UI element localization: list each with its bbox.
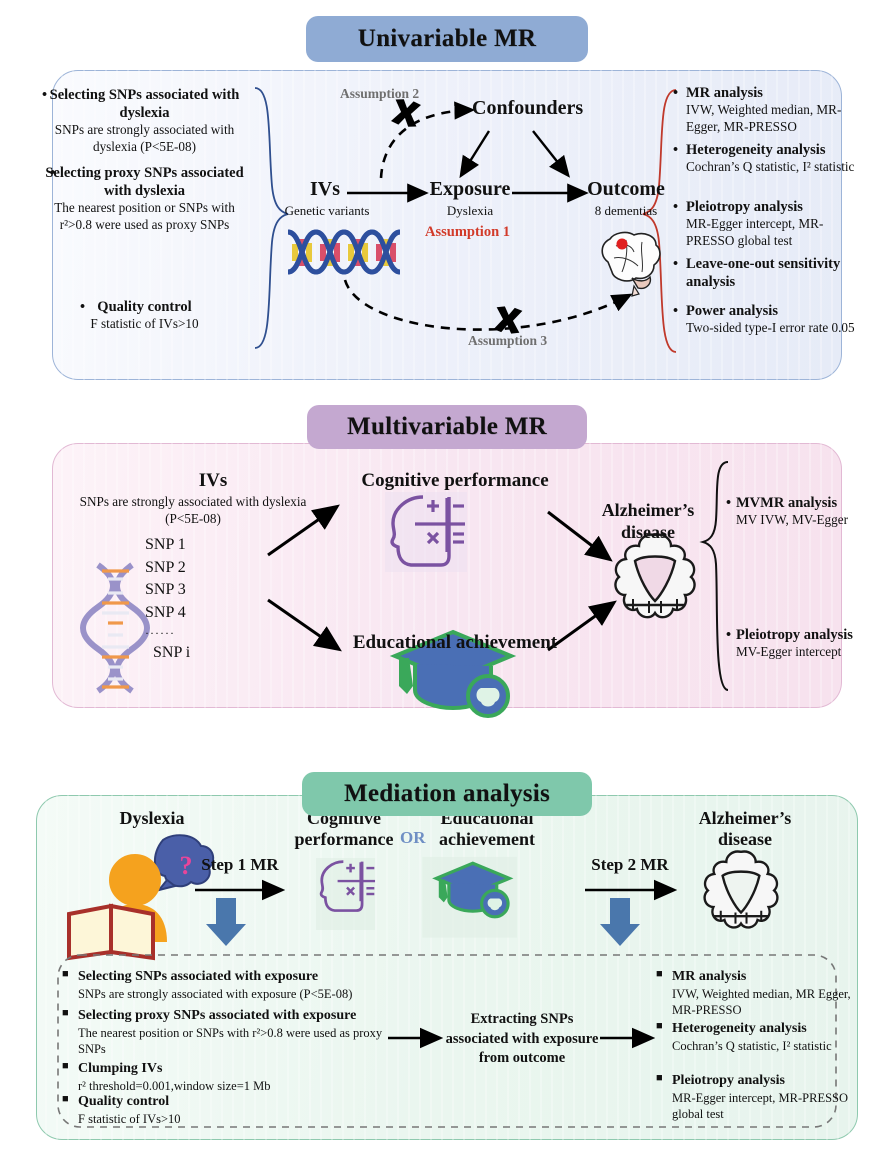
header-univariable-mr: Univariable MR xyxy=(306,16,588,62)
uni-right-item-3-head: •Pleiotropy analysis xyxy=(686,198,861,216)
uni-right-item-1-sub: IVW, Weighted median, MR-Egger, MR-PRESS… xyxy=(686,102,854,136)
list-item: SNP 2 xyxy=(145,557,235,580)
uni-node-confounders: Confounders xyxy=(472,97,622,120)
square-bullet-icon: ■ xyxy=(62,1060,69,1074)
uni-right-item-1-head: •MR analysis xyxy=(686,84,854,102)
med-middle-text: Extracting SNPs associated with exposure… xyxy=(442,1010,602,1069)
uni-left-item-2: •Selecting proxy SNPs associated with dy… xyxy=(42,164,247,234)
header-multivariable-mr: Multivariable MR xyxy=(307,405,587,449)
med-left-item-3-head: ■Clumping IVs xyxy=(78,1060,408,1078)
bullet-icon: • xyxy=(726,626,731,644)
uni-left-item-3-sub: F statistic of IVs>10 xyxy=(42,316,247,333)
uni-node-ivs: IVs xyxy=(300,178,350,201)
mv-right-item-1-head: •MVMR analysis xyxy=(736,494,876,512)
uni-right-item-2: •Heterogeneity analysis Cochran’s Q stat… xyxy=(686,141,861,176)
mv-ivs-label: IVs xyxy=(98,470,328,492)
list-item: SNP 4 xyxy=(145,602,235,625)
med-right-item-3-sub: MR-Egger intercept, MR-PRESSO global tes… xyxy=(672,1090,852,1122)
uni-left-item-1-sub: SNPs are strongly associated with dyslex… xyxy=(42,122,247,156)
uni-node-exposure-sub: Dyslexia xyxy=(420,203,520,219)
uni-node-outcome: Outcome xyxy=(578,178,674,201)
med-or-label: OR xyxy=(400,828,426,848)
bullet-icon: • xyxy=(673,302,678,320)
med-exposure-label: Dyslexia xyxy=(92,808,212,829)
uni-node-ivs-sub: Genetic variants xyxy=(282,203,372,219)
square-bullet-icon: ■ xyxy=(62,1093,69,1107)
bullet-icon: • xyxy=(726,494,731,512)
med-left-item-2: ■Selecting proxy SNPs associated with ex… xyxy=(78,1007,408,1057)
uni-left-item-3: •Quality control F statistic of IVs>10 xyxy=(42,298,247,333)
bullet-icon: • xyxy=(673,141,678,159)
med-left-item-3-sub: r² threshold=0.001,window size=1 Mb xyxy=(78,1078,408,1094)
uni-assumption-3-label: Assumption 3 xyxy=(468,333,547,349)
bullet-icon: • xyxy=(42,86,47,104)
mv-mediator-1-label: Cognitive performance xyxy=(330,470,580,492)
med-right-item-2-head: ■Heterogeneity analysis xyxy=(672,1020,852,1038)
uni-right-item-5: •Power analysis Two-sided type-I error r… xyxy=(686,302,858,337)
med-right-item-1-head: ■MR analysis xyxy=(672,968,852,986)
bullet-icon: • xyxy=(673,255,678,273)
med-outcome-label: Alzheimer’s disease xyxy=(680,808,810,849)
list-item: SNP 3 xyxy=(145,579,235,602)
uni-right-item-4-head: •Leave-one-out sensitivity analysis xyxy=(686,255,854,291)
uni-right-item-3: •Pleiotropy analysis MR-Egger intercept,… xyxy=(686,198,861,250)
uni-assumption-2-label: Assumption 2 xyxy=(340,86,419,102)
uni-left-item-1-head: •Selecting SNPs associated with dyslexia xyxy=(42,86,247,122)
uni-right-item-5-sub: Two-sided type-I error rate 0.05 xyxy=(686,320,858,337)
uni-left-item-2-sub: The nearest position or SNPs with r²>0.8… xyxy=(42,200,247,234)
uni-right-item-2-head: •Heterogeneity analysis xyxy=(686,141,861,159)
square-bullet-icon: ■ xyxy=(656,968,663,982)
mv-snp-list: SNP 1 SNP 2 SNP 3 SNP 4 ······ SNP i xyxy=(145,534,235,665)
med-left-item-4-sub: F statistic of IVs>10 xyxy=(78,1111,408,1127)
uni-right-item-5-head: •Power analysis xyxy=(686,302,858,320)
med-left-item-2-head: ■Selecting proxy SNPs associated with ex… xyxy=(78,1007,408,1025)
bullet-icon: • xyxy=(673,84,678,102)
square-bullet-icon: ■ xyxy=(656,1072,663,1086)
square-bullet-icon: ■ xyxy=(62,1007,69,1021)
uni-node-exposure: Exposure xyxy=(420,178,520,201)
mv-mediator-2-label: Educational achievement xyxy=(320,632,590,654)
uni-left-item-2-head: •Selecting proxy SNPs associated with dy… xyxy=(42,164,247,200)
uni-right-item-1: •MR analysis IVW, Weighted median, MR-Eg… xyxy=(686,84,854,136)
list-item: ······ xyxy=(145,625,235,642)
med-step-1-label: Step 1 MR xyxy=(190,855,290,875)
med-left-item-4-head: ■Quality control xyxy=(78,1093,408,1111)
med-right-item-3-head: ■Pleiotropy analysis xyxy=(672,1072,852,1090)
uni-right-item-3-sub: MR-Egger intercept, MR-PRESSO global tes… xyxy=(686,216,861,250)
med-right-item-3: ■Pleiotropy analysis MR-Egger intercept,… xyxy=(672,1072,852,1122)
med-left-item-3: ■Clumping IVs r² threshold=0.001,window … xyxy=(78,1060,408,1094)
bullet-icon: • xyxy=(673,198,678,216)
mv-right-item-2-sub: MV-Egger intercept xyxy=(736,644,884,661)
mv-right-item-2-head: •Pleiotropy analysis xyxy=(736,626,884,644)
list-item: SNP i xyxy=(145,642,235,665)
med-left-item-2-sub: The nearest position or SNPs with r²>0.8… xyxy=(78,1025,408,1057)
uni-left-item-1: •Selecting SNPs associated with dyslexia… xyxy=(42,86,247,156)
uni-left-item-3-head: •Quality control xyxy=(42,298,247,316)
uni-right-item-2-sub: Cochran’s Q statistic, I² statistic xyxy=(686,159,861,176)
uni-right-item-4: •Leave-one-out sensitivity analysis xyxy=(686,255,854,291)
mv-ivs-sub: SNPs are strongly associated with dyslex… xyxy=(68,494,318,528)
square-bullet-icon: ■ xyxy=(656,1020,663,1034)
uni-assumption-1-label: Assumption 1 xyxy=(425,224,510,241)
bullet-icon: • xyxy=(50,164,55,182)
med-left-item-1-sub: SNPs are strongly associated with exposu… xyxy=(78,986,408,1002)
list-item: SNP 1 xyxy=(145,534,235,557)
mv-right-item-2: •Pleiotropy analysis MV-Egger intercept xyxy=(736,626,884,661)
mv-outcome-label: Alzheimer’s disease xyxy=(598,500,698,543)
bullet-icon: • xyxy=(80,298,85,316)
med-left-item-1-head: ■Selecting SNPs associated with exposure xyxy=(78,968,408,986)
med-left-item-4: ■Quality control F statistic of IVs>10 xyxy=(78,1093,408,1127)
med-right-item-1-sub: IVW, Weighted median, MR Egger, MR-PRESS… xyxy=(672,986,852,1018)
med-left-item-1: ■Selecting SNPs associated with exposure… xyxy=(78,968,408,1002)
med-step-2-label: Step 2 MR xyxy=(580,855,680,875)
mv-right-item-1: •MVMR analysis MV IVW, MV-Egger xyxy=(736,494,876,529)
med-right-item-2: ■Heterogeneity analysis Cochran’s Q stat… xyxy=(672,1020,852,1054)
mv-right-item-1-sub: MV IVW, MV-Egger xyxy=(736,512,876,529)
med-right-item-1: ■MR analysis IVW, Weighted median, MR Eg… xyxy=(672,968,852,1018)
square-bullet-icon: ■ xyxy=(62,968,69,982)
med-right-item-2-sub: Cochran’s Q statistic, I² statistic xyxy=(672,1038,852,1054)
header-mediation-analysis: Mediation analysis xyxy=(302,772,592,816)
uni-node-outcome-sub: 8 dementias xyxy=(578,203,674,219)
